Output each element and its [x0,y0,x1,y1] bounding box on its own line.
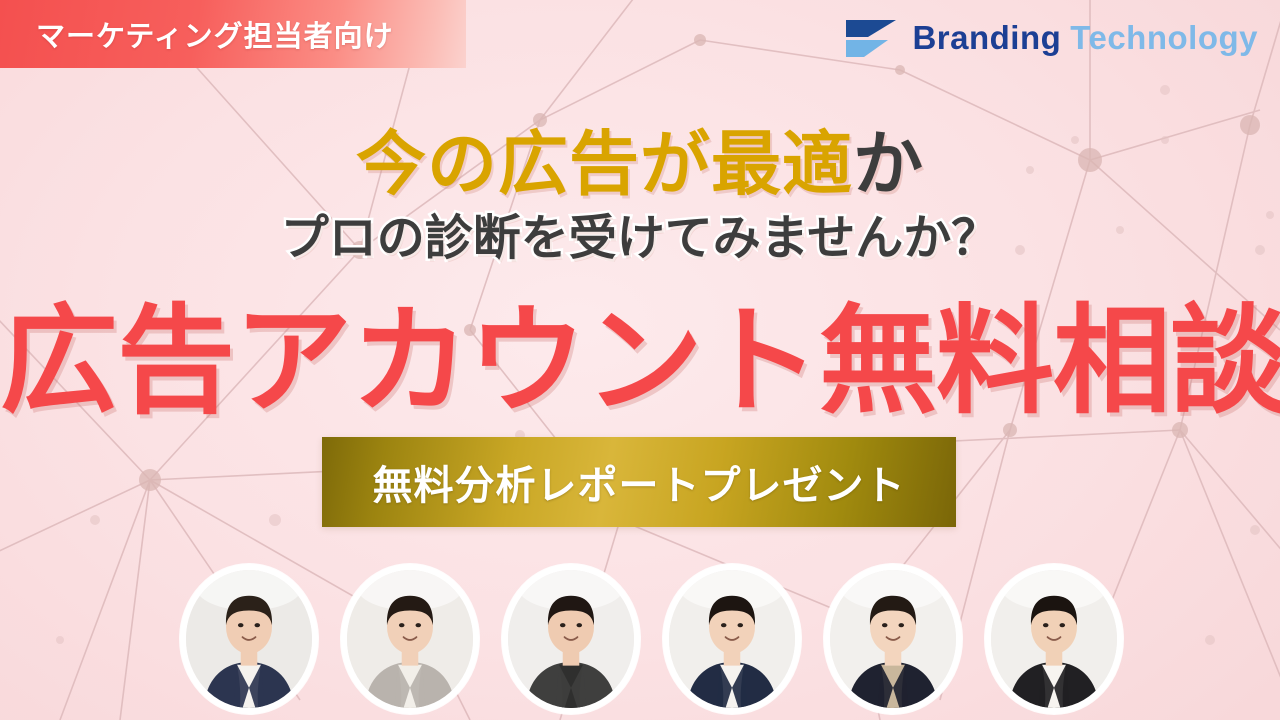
consultant-avatar-row [0,564,1280,720]
headline-gold-line: 今の広告が最適か [0,108,1280,209]
free-report-cta-bar: 無料分析レポートプレゼント [322,437,956,527]
avatar-consultant-1 [180,564,318,714]
target-audience-label: マーケティング担当者向け [36,13,394,55]
company-logo: BrandingTechnology [844,16,1258,60]
avatar-consultant-5 [824,564,962,714]
avatar-consultant-2 [341,564,479,714]
avatar-consultant-6 [985,564,1123,714]
headline-main-title: 広告アカウント無料相談会 [0,265,1280,436]
free-report-cta-label: 無料分析レポートプレゼント [373,453,906,511]
marketing-banner: マーケティング担当者向け BrandingTechnology 今の広告が最適か… [0,0,1280,720]
headline-gold-part: 今の広告が最適 [356,125,853,203]
headline-dark-part: か [853,125,924,203]
logo-brand-word: Branding [912,19,1061,56]
avatar-consultant-3 [502,564,640,714]
target-audience-badge: マーケティング担当者向け [0,0,466,68]
branding-technology-arrow-logo [844,16,898,60]
avatar-consultant-4 [663,564,801,714]
logo-tech-word: Technology [1070,19,1258,56]
logo-wordmark: BrandingTechnology [912,19,1258,57]
headline-sub-line: プロの診断を受けてみませんか？ [0,198,1280,268]
